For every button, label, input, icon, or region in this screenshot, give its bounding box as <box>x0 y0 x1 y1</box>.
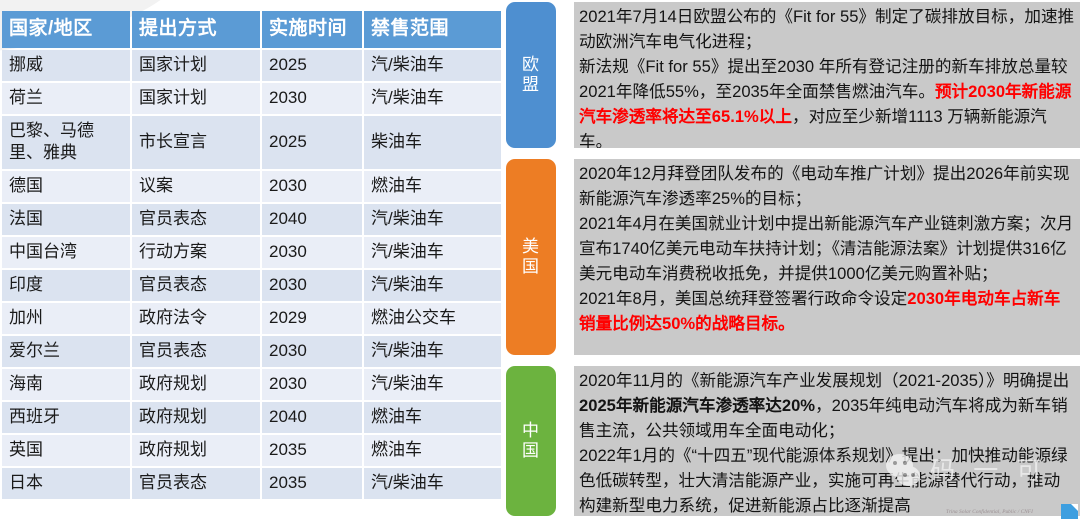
cell-method: 市长宣言 <box>132 116 260 169</box>
table-row: 英国 政府规划 2035 燃油车 <box>2 435 501 466</box>
cell-scope: 燃油公交车 <box>364 303 501 334</box>
slide-canvas: 国家/地区 提出方式 实施时间 禁售范围 挪威 国家计划 2025 汽/柴油车 … <box>0 0 1080 521</box>
cell-method: 行动方案 <box>132 237 260 268</box>
panel-paragraph: 2021年8月，美国总统拜登签署行政命令设定2030年电动车占新车销量比例达50… <box>579 286 1076 336</box>
table-row: 挪威 国家计划 2025 汽/柴油车 <box>2 50 501 81</box>
cell-year: 2035 <box>262 468 362 499</box>
policy-table: 国家/地区 提出方式 实施时间 禁售范围 挪威 国家计划 2025 汽/柴油车 … <box>0 9 503 501</box>
panel-paragraph: 2020年11月的《新能源汽车产业发展规划（2021-2035）》明确提出202… <box>579 368 1076 443</box>
body-text: 2021年7月14日欧盟公布的《Fit for 55》制定了碳排放目标，加速推动… <box>579 7 1074 51</box>
cell-method: 政府规划 <box>132 435 260 466</box>
panel-body-us: 2020年12月拜登团队发布的《电动车推广计划》提出2026年前实现新能源汽车渗… <box>574 159 1080 355</box>
region-tab-china[interactable]: 中 国 <box>506 366 556 516</box>
panel-us: 美 国 2020年12月拜登团队发布的《电动车推广计划》提出2026年前实现新能… <box>506 159 1080 355</box>
cell-year: 2029 <box>262 303 362 334</box>
cell-region: 德国 <box>2 171 130 202</box>
table-header-row: 国家/地区 提出方式 实施时间 禁售范围 <box>2 11 501 48</box>
cell-year: 2030 <box>262 237 362 268</box>
region-tab-eu-char-2: 盟 <box>522 75 540 95</box>
cell-region: 西班牙 <box>2 402 130 433</box>
cell-method: 议案 <box>132 171 260 202</box>
table-row: 中国台湾 行动方案 2030 汽/柴油车 <box>2 237 501 268</box>
cell-scope: 汽/柴油车 <box>364 237 501 268</box>
region-tab-us[interactable]: 美 国 <box>506 159 556 355</box>
table-row: 西班牙 政府规划 2040 燃油车 <box>2 402 501 433</box>
cell-scope: 汽/柴油车 <box>364 50 501 81</box>
footer: Trina Solar Confidential, Public / CNFI <box>946 503 1080 521</box>
panel-body-eu: 2021年7月14日欧盟公布的《Fit for 55》制定了碳排放目标，加速推动… <box>574 2 1080 148</box>
table-row: 日本 官员表态 2035 汽/柴油车 <box>2 468 501 499</box>
cell-method: 官员表态 <box>132 336 260 367</box>
cell-year: 2030 <box>262 270 362 301</box>
column-header-region: 国家/地区 <box>2 11 130 48</box>
table-row: 法国 官员表态 2040 汽/柴油车 <box>2 204 501 235</box>
cell-method: 政府规划 <box>132 402 260 433</box>
column-header-method: 提出方式 <box>132 11 260 48</box>
cell-region: 英国 <box>2 435 130 466</box>
cell-year: 2040 <box>262 204 362 235</box>
region-tab-china-char-2: 国 <box>522 441 540 461</box>
cell-year: 2025 <box>262 50 362 81</box>
cell-region: 爱尔兰 <box>2 336 130 367</box>
panel-paragraph: 新法规《Fit for 55》提出至2030 年所有登记注册的新车排放总量较20… <box>579 54 1076 148</box>
cell-region: 荷兰 <box>2 83 130 114</box>
table-row: 巴黎、马德里、雅典 市长宣言 2025 柴油车 <box>2 116 501 169</box>
panel-paragraph: 2021年4月在美国就业计划中提出新能源汽车产业链刺激方案；次月宣布1740亿美… <box>579 211 1076 286</box>
footer-confidentiality-note: Trina Solar Confidential, Public / CNFI <box>946 509 1033 515</box>
cell-region: 日本 <box>2 468 130 499</box>
body-text: 2020年12月拜登团队发布的《电动车推广计划》提出2026年前实现新能源汽车渗… <box>579 164 1070 208</box>
table-row: 印度 官员表态 2030 汽/柴油车 <box>2 270 501 301</box>
cell-scope: 汽/柴油车 <box>364 204 501 235</box>
cell-region: 海南 <box>2 369 130 400</box>
cell-scope: 汽/柴油车 <box>364 468 501 499</box>
cell-region: 挪威 <box>2 50 130 81</box>
body-text: 2021年4月在美国就业计划中提出新能源汽车产业链刺激方案；次月宣布1740亿美… <box>579 214 1073 283</box>
cell-method: 官员表态 <box>132 270 260 301</box>
highlight-bold-text: 2025年新能源汽车渗透率达20% <box>579 396 815 415</box>
column-header-year: 实施时间 <box>262 11 362 48</box>
cell-region: 巴黎、马德里、雅典 <box>2 116 130 169</box>
cell-year: 2030 <box>262 369 362 400</box>
region-tab-eu-char-1: 欧 <box>522 55 540 75</box>
cell-method: 官员表态 <box>132 468 260 499</box>
region-tab-us-char-1: 美 <box>522 237 540 257</box>
cell-scope: 燃油车 <box>364 171 501 202</box>
brand-mark-icon <box>1061 504 1078 519</box>
cell-year: 2030 <box>262 171 362 202</box>
region-tab-us-char-2: 国 <box>522 257 540 277</box>
region-tab-eu[interactable]: 欧 盟 <box>506 2 556 148</box>
table-row: 加州 政府法令 2029 燃油公交车 <box>2 303 501 334</box>
cell-scope: 汽/柴油车 <box>364 83 501 114</box>
cell-method: 政府规划 <box>132 369 260 400</box>
table-row: 德国 议案 2030 燃油车 <box>2 171 501 202</box>
cell-year: 2040 <box>262 402 362 433</box>
cell-region: 印度 <box>2 270 130 301</box>
cell-year: 2035 <box>262 435 362 466</box>
cell-method: 政府法令 <box>132 303 260 334</box>
body-text: 2021年8月，美国总统拜登签署行政命令设定 <box>579 289 907 308</box>
cell-region: 加州 <box>2 303 130 334</box>
region-tab-china-char-1: 中 <box>522 421 540 441</box>
cell-region: 中国台湾 <box>2 237 130 268</box>
panel-china: 中 国 2020年11月的《新能源汽车产业发展规划（2021-2035）》明确提… <box>506 366 1080 516</box>
table-row: 海南 政府规划 2030 汽/柴油车 <box>2 369 501 400</box>
cell-method: 官员表态 <box>132 204 260 235</box>
cell-method: 国家计划 <box>132 50 260 81</box>
panel-paragraph: 2021年7月14日欧盟公布的《Fit for 55》制定了碳排放目标，加速推动… <box>579 4 1076 54</box>
column-header-scope: 禁售范围 <box>364 11 501 48</box>
region-panels: 欧 盟 2021年7月14日欧盟公布的《Fit for 55》制定了碳排放目标，… <box>506 0 1080 521</box>
cell-method: 国家计划 <box>132 83 260 114</box>
cell-year: 2025 <box>262 116 362 169</box>
cell-scope: 燃油车 <box>364 435 501 466</box>
table-body: 挪威 国家计划 2025 汽/柴油车 荷兰 国家计划 2030 汽/柴油车 巴黎… <box>2 50 501 499</box>
cell-scope: 汽/柴油车 <box>364 336 501 367</box>
policy-table-container: 国家/地区 提出方式 实施时间 禁售范围 挪威 国家计划 2025 汽/柴油车 … <box>0 9 497 501</box>
cell-year: 2030 <box>262 336 362 367</box>
cell-region: 法国 <box>2 204 130 235</box>
panel-eu: 欧 盟 2021年7月14日欧盟公布的《Fit for 55》制定了碳排放目标，… <box>506 2 1080 148</box>
cell-scope: 燃油车 <box>364 402 501 433</box>
table-row: 荷兰 国家计划 2030 汽/柴油车 <box>2 83 501 114</box>
cell-year: 2030 <box>262 83 362 114</box>
cell-scope: 汽/柴油车 <box>364 270 501 301</box>
cell-scope: 汽/柴油车 <box>364 369 501 400</box>
cell-scope: 柴油车 <box>364 116 501 169</box>
panel-paragraph: 2020年12月拜登团队发布的《电动车推广计划》提出2026年前实现新能源汽车渗… <box>579 161 1076 211</box>
panel-body-china: 2020年11月的《新能源汽车产业发展规划（2021-2035）》明确提出202… <box>574 366 1080 516</box>
body-text: 2020年11月的《新能源汽车产业发展规划（2021-2035）》明确提出 <box>579 371 1069 390</box>
table-row: 爱尔兰 官员表态 2030 汽/柴油车 <box>2 336 501 367</box>
